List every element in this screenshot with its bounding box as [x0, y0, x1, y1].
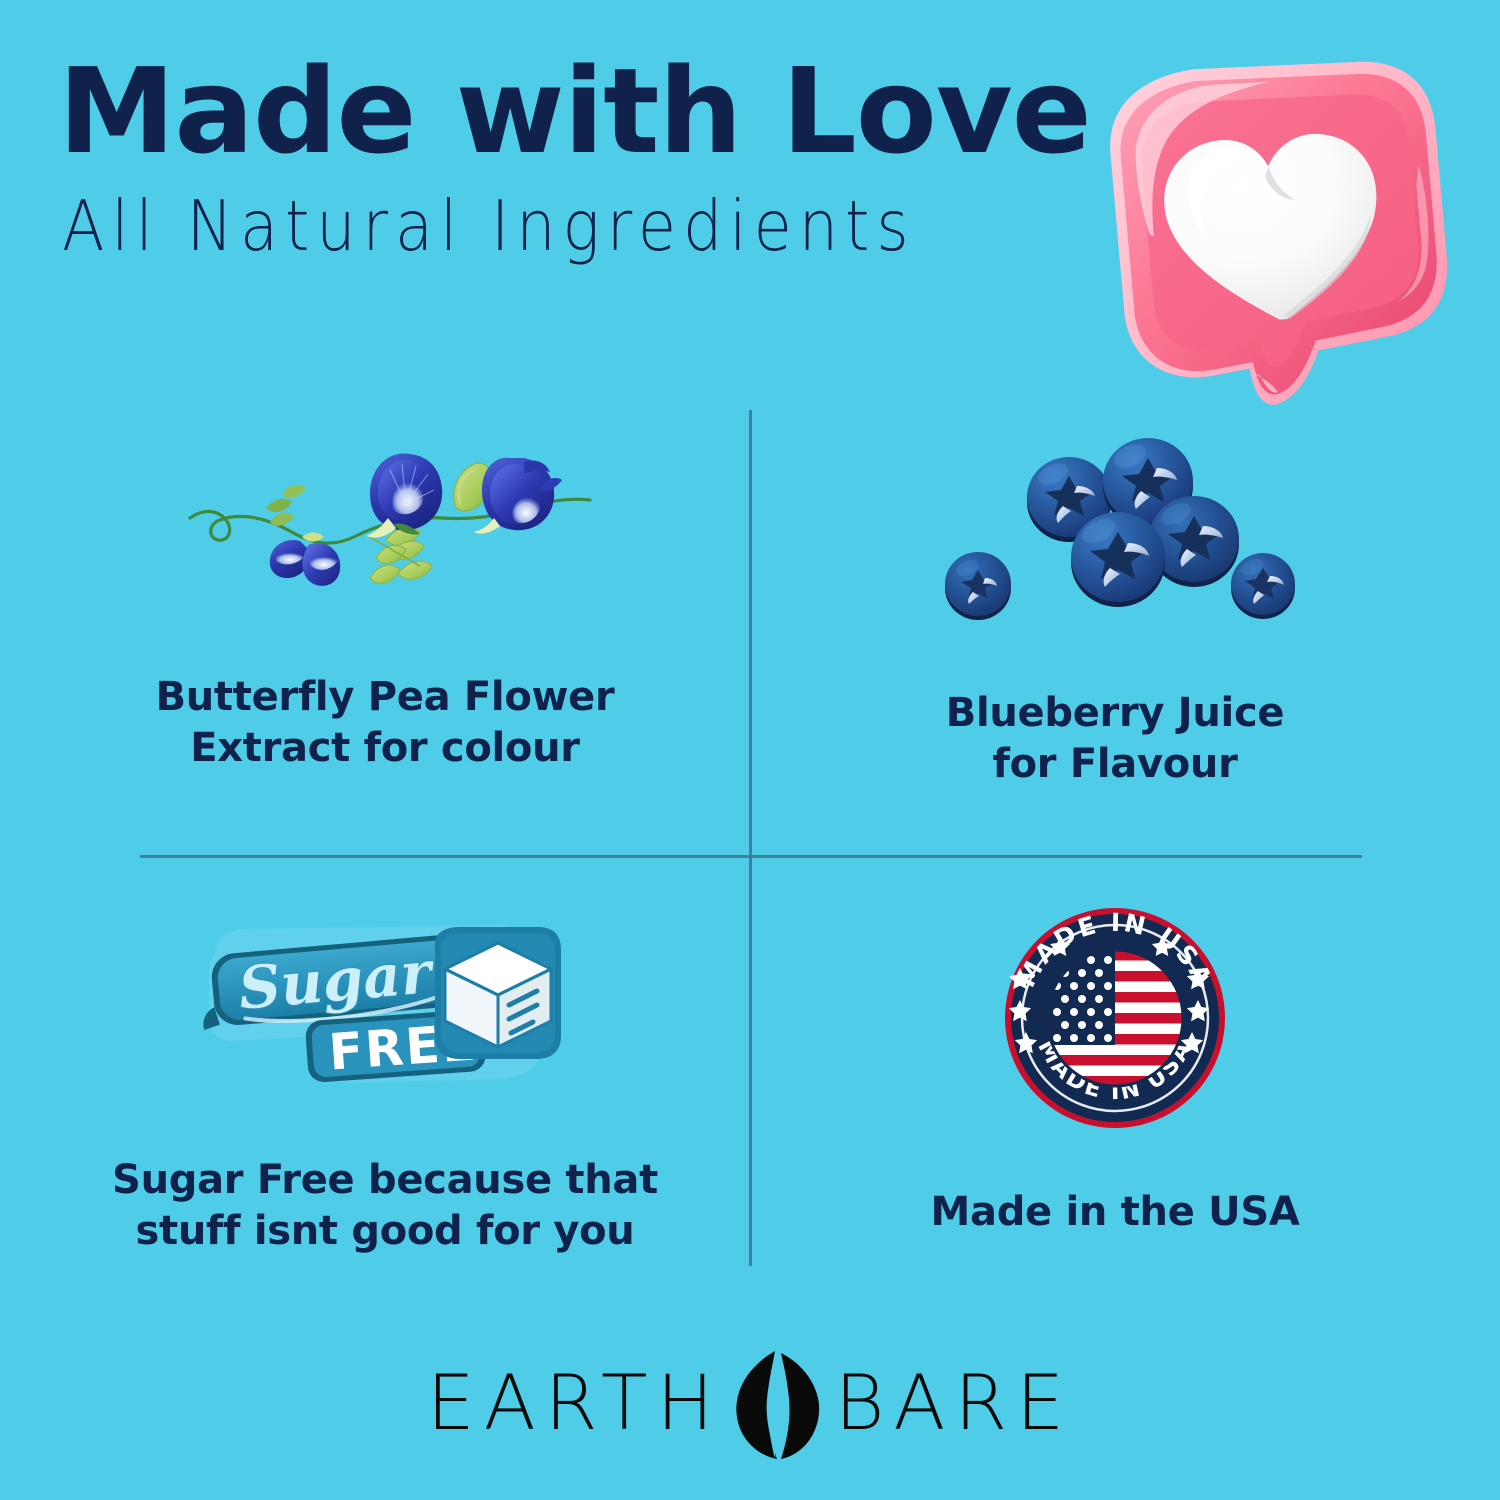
feature-sugar-free: Sugar FREE [75, 915, 695, 1257]
infographic-canvas: Made with Love All Natural Ingredients [0, 0, 1500, 1500]
feature-caption: Butterfly Pea Flower Extract for colour [156, 672, 615, 774]
heart-speech-bubble-icon [1072, 48, 1472, 418]
brand-logo: EARTH BARE [0, 1345, 1500, 1461]
blueberries-illustration [935, 430, 1295, 640]
feature-blueberry-juice: Blueberry Juice for Flavour [805, 430, 1425, 790]
vertical-divider [749, 410, 752, 1266]
feature-caption: Made in the USA [931, 1187, 1300, 1238]
brand-word-left: EARTH [427, 1365, 723, 1441]
page-subtitle: All Natural Ingredients [62, 192, 1072, 261]
butterfly-pea-flower-illustration [170, 430, 600, 630]
feature-made-in-usa: MADE IN USA MADE IN USA [805, 900, 1425, 1238]
feature-butterfly-pea-flower: Butterfly Pea Flower Extract for colour [75, 430, 695, 774]
sugar-free-badge: Sugar FREE [195, 915, 575, 1105]
page-title: Made with Love [58, 52, 1068, 170]
feature-caption: Sugar Free because that stuff isnt good … [112, 1155, 658, 1257]
feature-caption: Blueberry Juice for Flavour [946, 688, 1284, 790]
brand-word-right: BARE [835, 1365, 1074, 1441]
made-in-usa-seal: MADE IN USA MADE IN USA [1000, 900, 1230, 1135]
leaf-mark-icon [731, 1345, 827, 1461]
